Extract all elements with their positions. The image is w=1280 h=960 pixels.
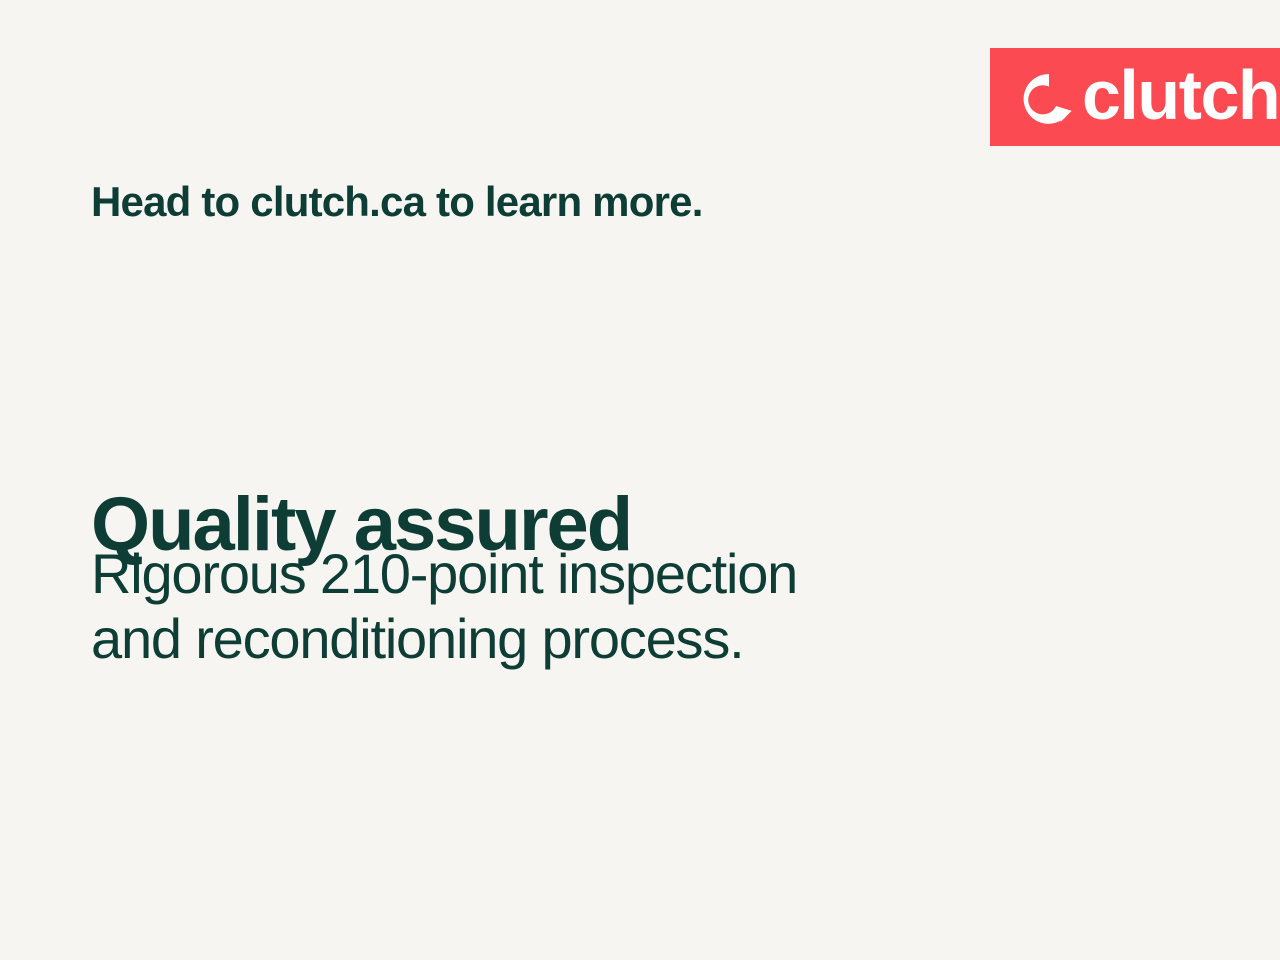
clutch-c-mark-icon [1022,72,1076,126]
promo-slide: clutch Head to clutch.ca to learn more. … [0,0,1280,960]
subhead-line: Rigorous 210-point inspection [91,542,991,607]
clutch-logo[interactable]: clutch [1022,62,1279,132]
subhead-text: Rigorous 210-point inspection and recond… [91,542,991,672]
subhead-line: and reconditioning process. [91,607,991,672]
eyebrow-text: Head to clutch.ca to learn more. [91,178,703,226]
clutch-brand-banner: clutch [990,48,1280,146]
clutch-wordmark: clutch [1082,60,1279,130]
